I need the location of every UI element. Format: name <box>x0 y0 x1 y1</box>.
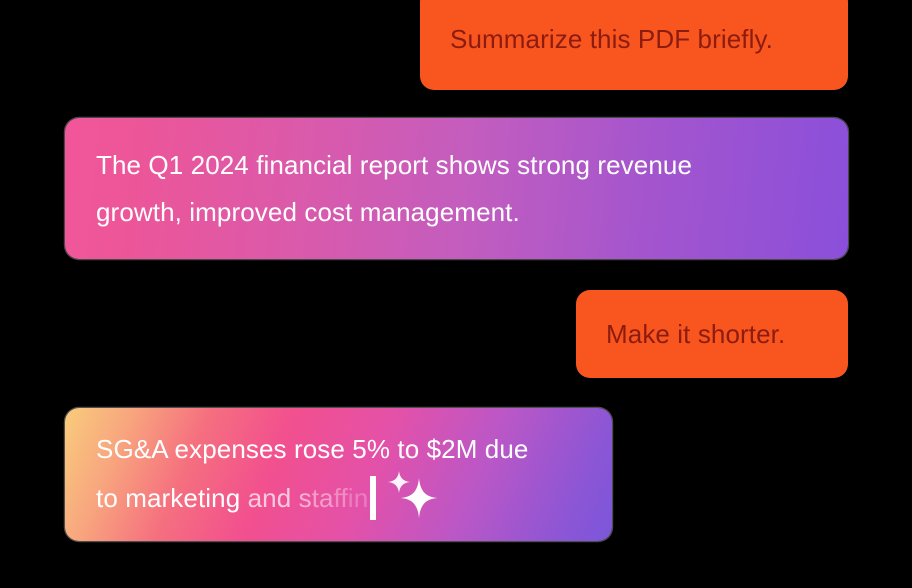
chat-canvas: Summarize this PDF briefly. The Q1 2024 … <box>0 0 912 588</box>
user-message-bubble-1[interactable]: Summarize this PDF briefly. <box>420 0 848 90</box>
sparkle-group <box>382 473 438 523</box>
assistant-message-line-2a: SG&A expenses rose 5% to $2M due <box>96 426 581 473</box>
user-message-text-2: Make it shorter. <box>606 311 818 358</box>
assistant-message-line-1a: The Q1 2024 financial report shows stron… <box>96 142 817 189</box>
user-message-text-1: Summarize this PDF briefly. <box>450 16 818 63</box>
assistant-message-line-1b: growth, improved cost management. <box>96 189 817 236</box>
assistant-message-bubble-2[interactable]: SG&A expenses rose 5% to $2M due to mark… <box>65 408 612 541</box>
assistant-text-fade-3: ta <box>312 475 334 522</box>
assistant-text-fade-1: and <box>248 475 299 522</box>
assistant-text-fade-6: n <box>354 475 369 522</box>
sparkle-large-icon <box>400 478 438 518</box>
assistant-message-bubble-1[interactable]: The Q1 2024 financial report shows stron… <box>65 118 848 259</box>
text-cursor-icon <box>370 476 376 520</box>
assistant-text-fade-4: ff <box>334 475 348 522</box>
assistant-message-line-2b: to marketing and s ta ff i n <box>96 473 581 523</box>
user-message-bubble-2[interactable]: Make it shorter. <box>576 290 848 378</box>
assistant-text-solid: to marketing <box>96 475 248 522</box>
assistant-text-fade-2: s <box>299 475 312 522</box>
